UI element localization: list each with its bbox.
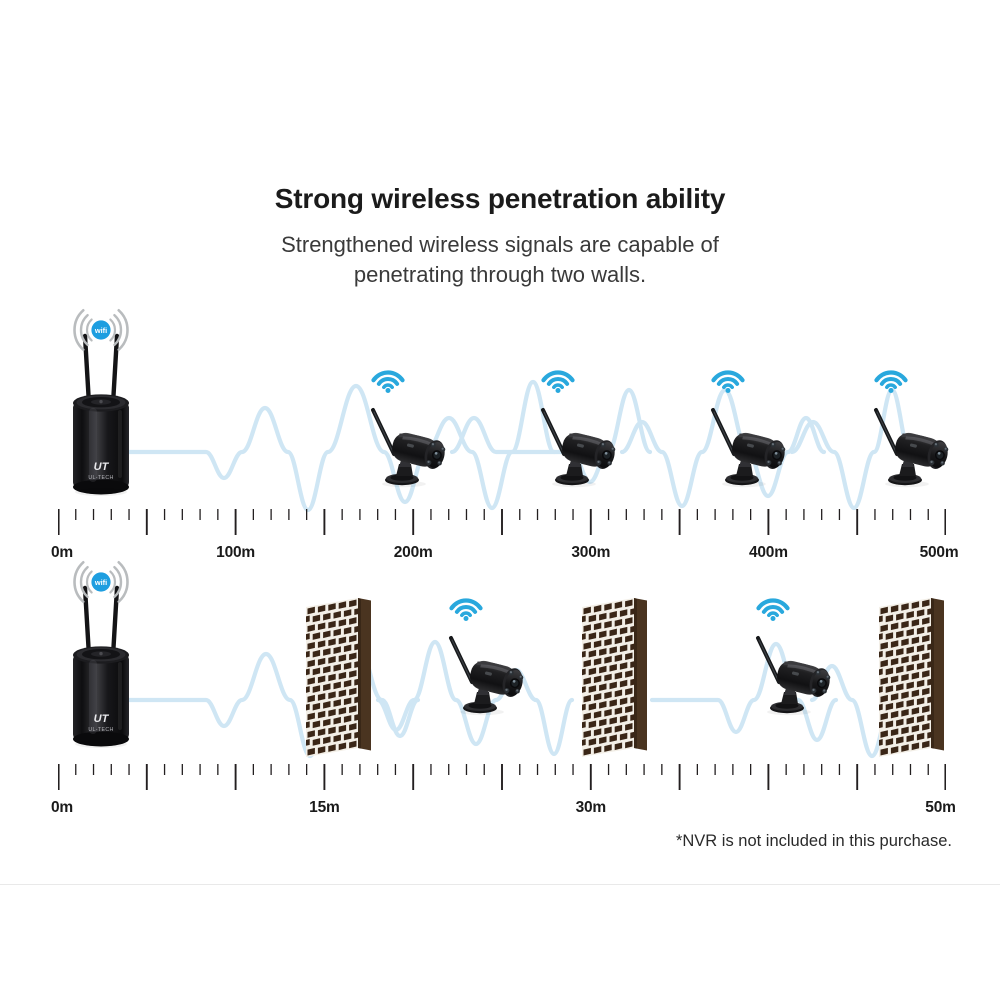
distance-ruler-50m: 0m15m30m50m — [58, 763, 946, 823]
product-infographic: Strong wireless penetration ability Stre… — [0, 0, 1000, 1000]
ruler-label: 0m — [51, 544, 73, 562]
signal-wave-row1-b — [452, 390, 650, 482]
ruler-ticks — [58, 763, 946, 793]
wifi-fan-icon — [373, 372, 402, 393]
footnote-nvr-not-included: *NVR is not included in this purchase. — [676, 832, 952, 851]
wifi-badge-label: wifi — [94, 326, 107, 335]
ruler-label: 50m — [925, 799, 955, 817]
ruler-label: 15m — [309, 799, 339, 817]
brand-logo-ultech: UL-TECH — [88, 727, 113, 733]
antenna-icon — [85, 588, 89, 656]
bottom-divider — [0, 884, 1000, 885]
security-camera-icon — [451, 600, 526, 715]
brand-logo-ut: UT — [94, 461, 110, 473]
signal-wave-row1-c — [622, 390, 824, 506]
ruler-label-group: 0m100m200m300m400m500m — [58, 544, 946, 566]
ruler-label: 100m — [216, 544, 255, 562]
wifi-fan-icon — [451, 600, 480, 621]
ruler-ticks — [58, 508, 946, 538]
ruler-label: 30m — [576, 799, 606, 817]
brick-wall-icon — [292, 598, 371, 757]
ruler-label: 200m — [394, 544, 433, 562]
security-camera-icon — [758, 600, 833, 715]
security-camera-icon — [373, 372, 448, 487]
security-camera-icon — [543, 372, 618, 487]
wifi-fan-icon — [543, 372, 572, 393]
brand-logo-ut: UT — [94, 713, 110, 725]
nvr-router-icon: UTUL-TECHwifi — [73, 562, 129, 748]
antenna-icon — [85, 336, 89, 404]
signal-wave-row2-a — [128, 638, 418, 756]
ruler-label: 0m — [51, 799, 73, 817]
ruler-label-group: 0m15m30m50m — [58, 799, 946, 821]
ruler-label: 400m — [749, 544, 788, 562]
wifi-badge-icon: wifi — [75, 562, 128, 601]
security-camera-icon — [876, 372, 951, 487]
signal-wave-row1-d — [792, 390, 910, 508]
signal-wave-row2-b — [378, 642, 572, 754]
wifi-fan-icon — [758, 600, 787, 621]
brand-logo-ultech: UL-TECH — [88, 475, 113, 481]
wifi-badge-icon: wifi — [75, 310, 128, 349]
ruler-label: 300m — [571, 544, 610, 562]
wifi-fan-icon — [876, 372, 905, 393]
brick-wall-icon — [865, 598, 944, 757]
antenna-icon — [113, 588, 117, 656]
ruler-label: 500m — [920, 544, 959, 562]
signal-waves-group — [128, 382, 930, 756]
wifi-fan-icon — [713, 372, 742, 393]
nvr-router-icon: UTUL-TECHwifi — [73, 310, 129, 496]
antenna-icon — [113, 336, 117, 404]
wifi-badge-label: wifi — [94, 578, 107, 587]
distance-ruler-500m: 0m100m200m300m400m500m — [58, 508, 946, 568]
brick-wall-icon — [568, 598, 647, 757]
